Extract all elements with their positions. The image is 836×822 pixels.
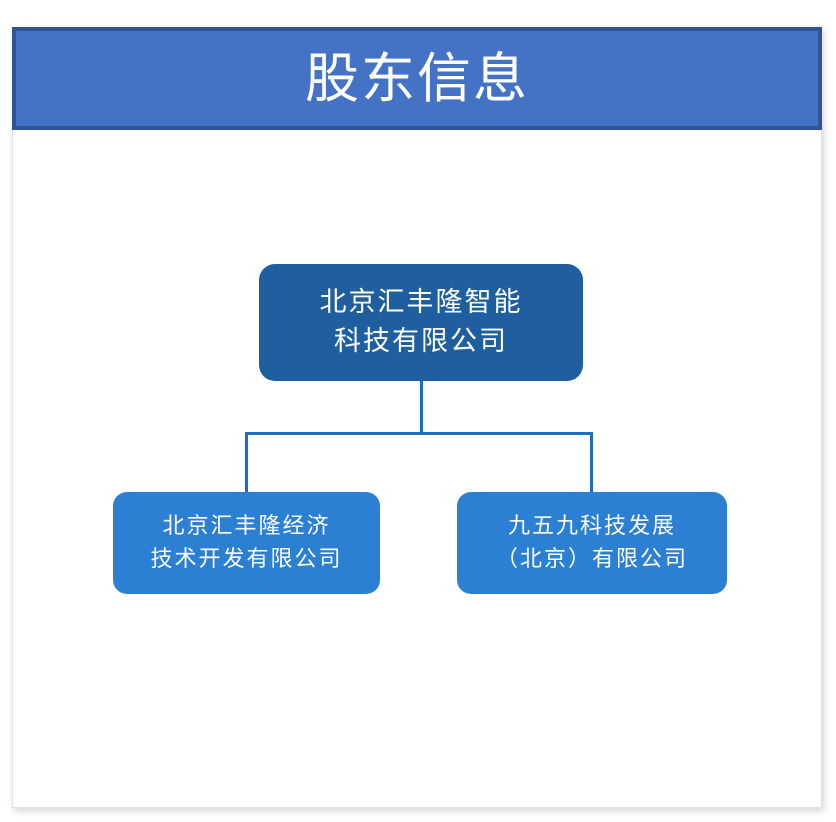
- org-node-child-left-label: 北京汇丰隆经济 技术开发有限公司: [150, 510, 342, 576]
- org-node-child-right-label: 九五九科技发展 （北京）有限公司: [496, 510, 688, 576]
- page-title: 股东信息: [305, 52, 529, 106]
- header-banner: 股东信息: [12, 27, 822, 130]
- org-node-child-right[interactable]: 九五九科技发展 （北京）有限公司: [457, 492, 727, 594]
- org-node-root[interactable]: 北京汇丰隆智能 科技有限公司: [259, 264, 583, 381]
- diagram-page: 股东信息 北京汇丰隆智能 科技有限公司 北京汇丰隆经济 技术开发有限公司 九五九…: [0, 0, 836, 822]
- connector-lines: [13, 131, 821, 807]
- org-node-root-label: 北京汇丰隆智能 科技有限公司: [320, 284, 523, 361]
- org-chart-canvas: 北京汇丰隆智能 科技有限公司 北京汇丰隆经济 技术开发有限公司 九五九科技发展 …: [13, 131, 821, 807]
- org-node-child-left[interactable]: 北京汇丰隆经济 技术开发有限公司: [113, 492, 380, 594]
